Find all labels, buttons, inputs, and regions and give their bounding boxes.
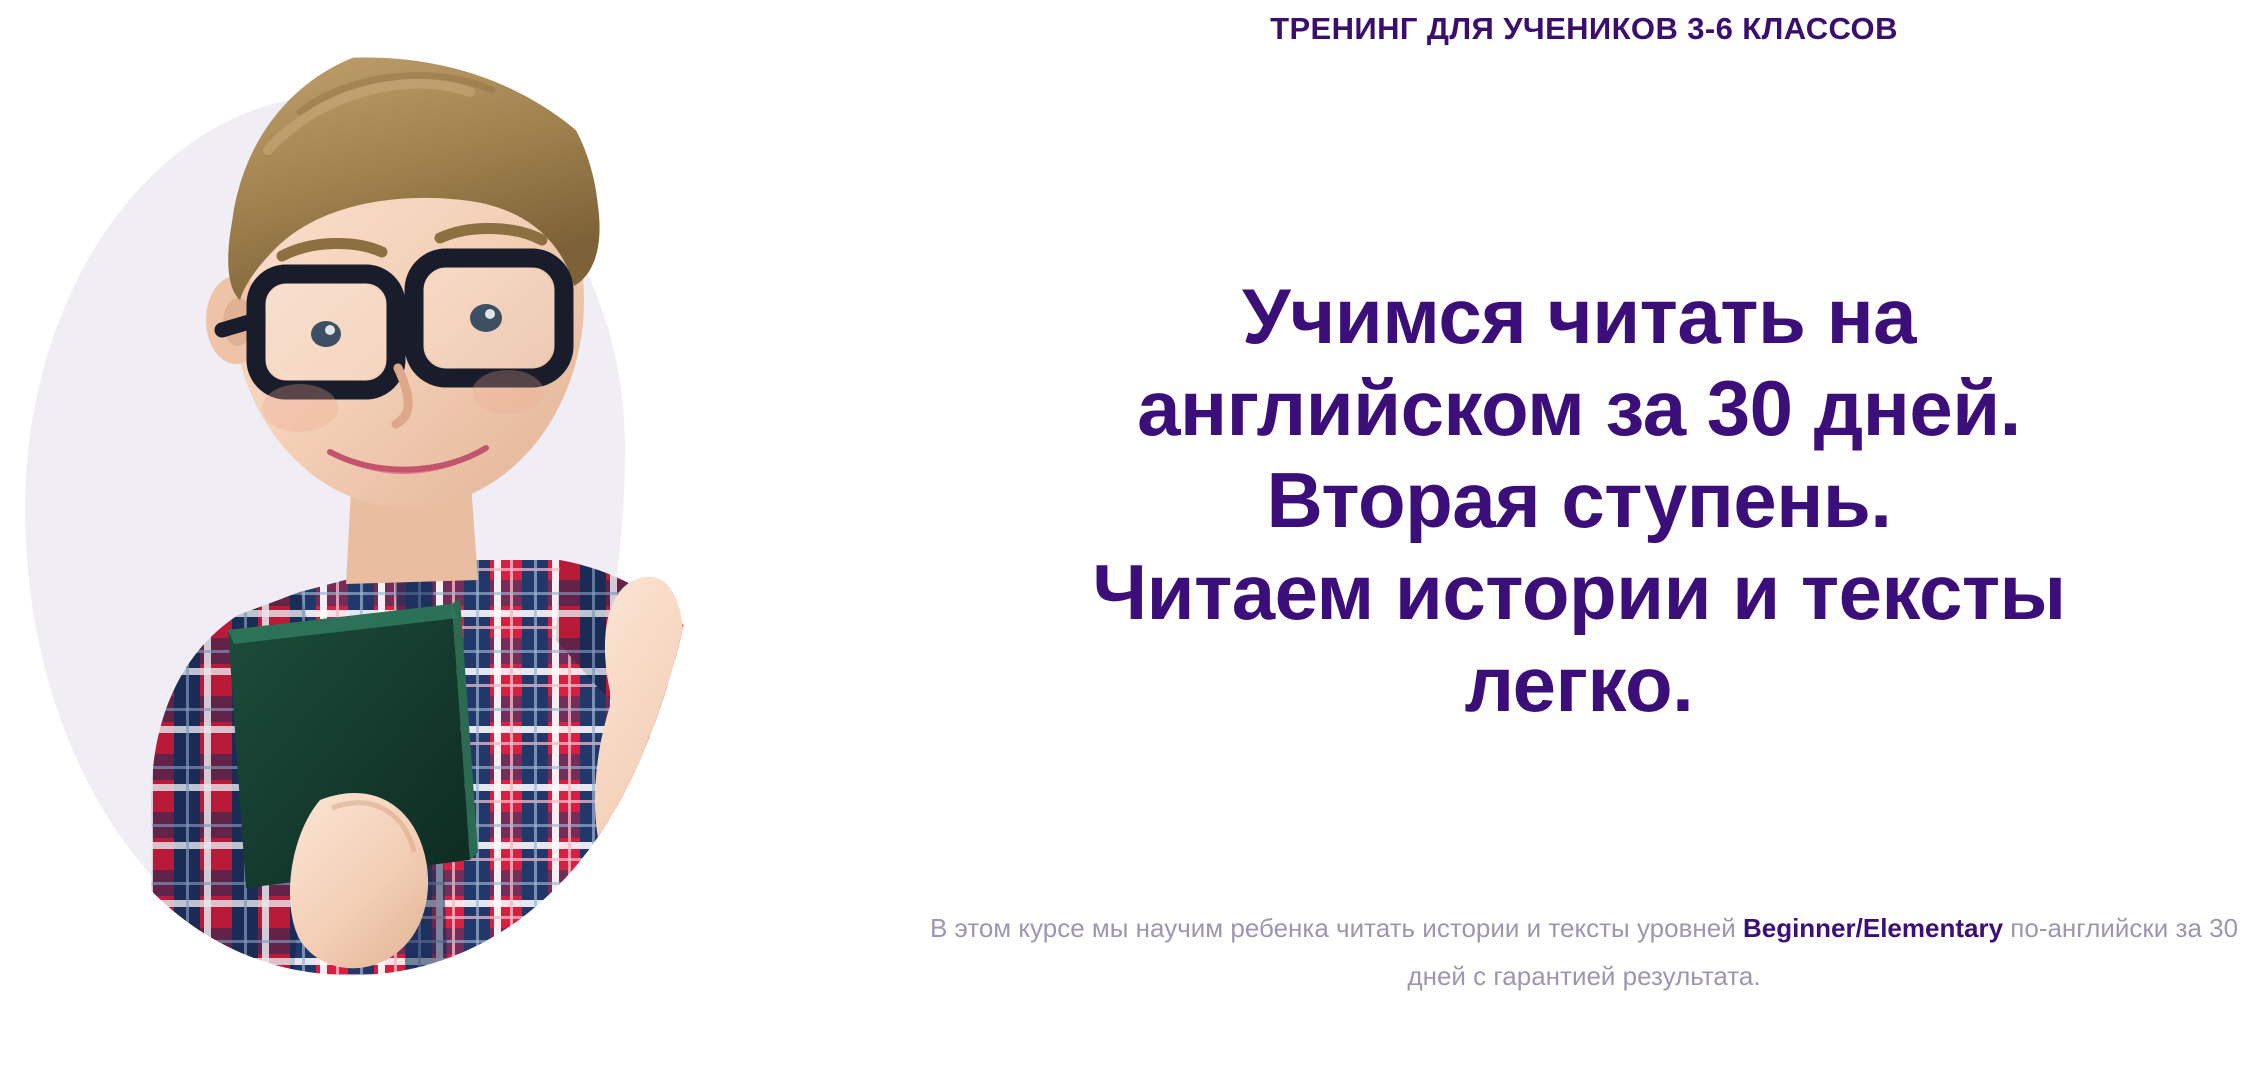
hero-section: ТРЕНИНГ ДЛЯ УЧЕНИКОВ 3-6 КЛАССОВ Учимся … — [0, 0, 2258, 1080]
subcopy-text-before: В этом курсе мы научим ребенка читать ис… — [930, 913, 1743, 943]
hero-image-panel — [0, 0, 900, 1080]
hero-subcopy: В этом курсе мы научим ребенка читать ис… — [910, 904, 2258, 1000]
hero-eyebrow-label: ТРЕНИНГ ДЛЯ УЧЕНИКОВ 3-6 КЛАССОВ — [910, 10, 2258, 47]
hero-copy-panel: ТРЕНИНГ ДЛЯ УЧЕНИКОВ 3-6 КЛАССОВ Учимся … — [900, 0, 2258, 1080]
thumbs-up-hand — [595, 577, 759, 898]
subcopy-level-highlight: Beginner/Elementary — [1743, 913, 2003, 943]
hand-lower — [290, 793, 428, 968]
headline-line-2: английском за 30 дней. — [890, 362, 2258, 454]
headline-line-3: Вторая ступень. — [890, 454, 2258, 546]
headline-line-1: Учимся читать на — [890, 270, 2258, 362]
page-title: Учимся читать на английском за 30 дней. … — [890, 270, 2258, 730]
headline-line-4: Читаем истории и тексты — [890, 546, 2258, 638]
student-photo — [0, 0, 900, 1080]
headline-line-5: легко. — [890, 638, 2258, 730]
